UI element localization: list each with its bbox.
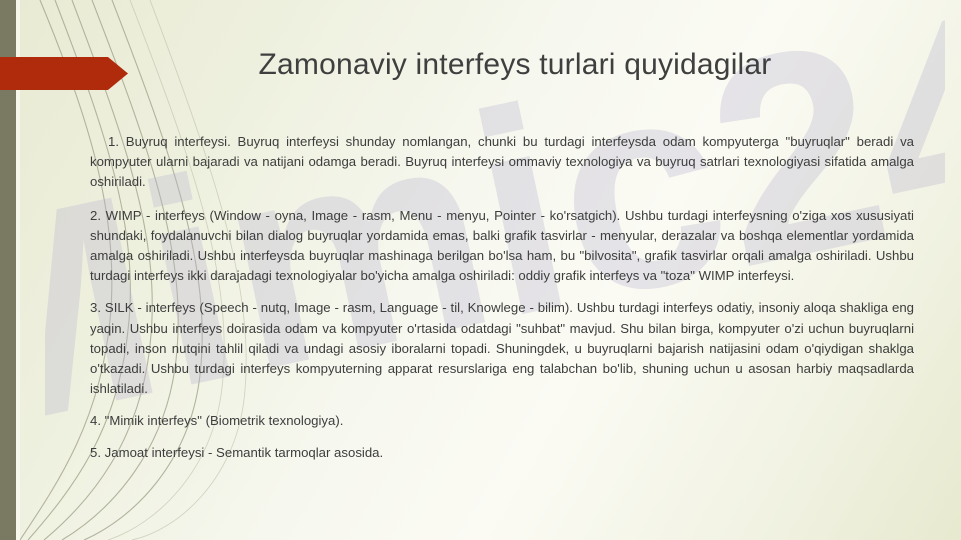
paragraph-1: 1. Buyruq interfeysi. Buyruq interfeysi … — [90, 132, 914, 192]
slide-canvas: Mimic24 Zamonaviy interfeys turlari quyi… — [0, 0, 961, 540]
paragraph-3: 3. SILK - interfeys (Speech - nutq, Imag… — [90, 298, 914, 398]
paragraph-2: 2. WIMP - interfeys (Window - oyna, Imag… — [90, 206, 914, 286]
slide-body: 1. Buyruq interfeysi. Buyruq interfeysi … — [90, 132, 914, 463]
paragraph-5: 5. Jamoat interfeysi - Semantik tarmoqla… — [90, 443, 914, 463]
page-title: Zamonaviy interfeys turlari quyidagilar — [120, 48, 910, 82]
red-arrow-banner — [0, 57, 128, 90]
paragraph-4: 4. "Mimik interfeys" (Biometrik texnolog… — [90, 411, 914, 431]
